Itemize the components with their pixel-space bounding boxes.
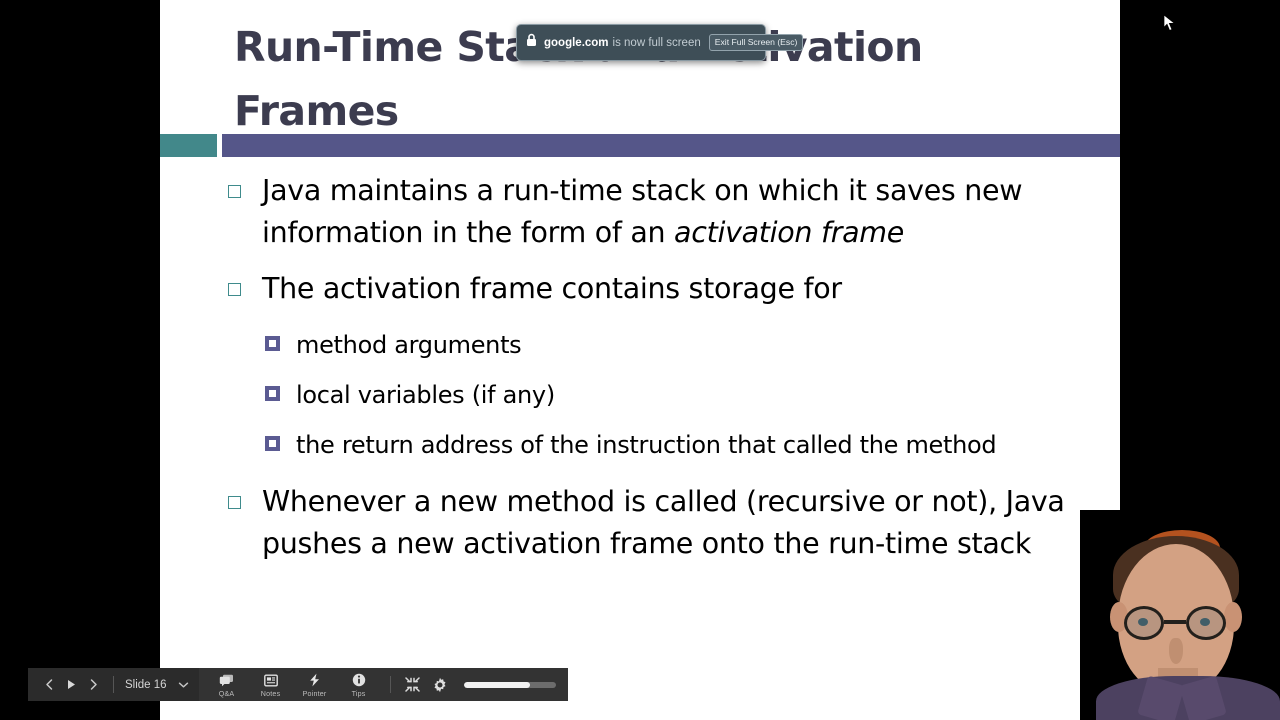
title-divider-bar xyxy=(160,134,1120,157)
tips-info-icon xyxy=(352,672,366,689)
banner-message: is now full screen xyxy=(613,37,701,49)
sub-bullet-square-icon xyxy=(265,386,280,401)
presentation-slide: Run-Time Stack and Activation Frames Jav… xyxy=(160,0,1120,720)
list-item: method arguments xyxy=(160,324,1120,367)
divider xyxy=(390,676,391,693)
bullet-text: local variables (if any) xyxy=(296,374,555,417)
bullet-square-icon xyxy=(228,496,241,509)
list-item: Java maintains a run-time stack on which… xyxy=(160,170,1120,254)
qa-label: Q&A xyxy=(219,690,235,698)
notes-label: Notes xyxy=(261,690,281,698)
gear-icon[interactable] xyxy=(426,672,454,698)
list-item: local variables (if any) xyxy=(160,374,1120,417)
bullet-text: The activation frame contains storage fo… xyxy=(262,268,842,310)
divider-teal-block xyxy=(160,134,217,157)
sub-bullet-square-icon xyxy=(265,336,280,351)
list-item: The activation frame contains storage fo… xyxy=(160,268,1120,310)
chevron-down-icon[interactable] xyxy=(173,672,195,698)
control-bar-right-group: Q&A Notes xyxy=(199,668,568,701)
previous-slide-button[interactable] xyxy=(38,672,60,698)
pointer-laser-icon xyxy=(308,672,321,689)
mouse-cursor xyxy=(1163,14,1176,38)
emphasis-activation-frame: activation frame xyxy=(674,216,904,249)
screen: Run-Time Stack and Activation Frames Jav… xyxy=(0,0,1280,720)
collapse-arrows-icon[interactable] xyxy=(400,672,426,698)
lock-icon xyxy=(526,33,537,52)
control-bar-left-group: Slide 16 xyxy=(28,668,199,701)
slide-number-indicator[interactable]: Slide 16 xyxy=(123,679,173,691)
presenter-video-overlay[interactable] xyxy=(1080,510,1280,720)
bullet-text: Whenever a new method is called (recursi… xyxy=(262,481,1074,565)
pointer-button[interactable]: Pointer xyxy=(293,672,337,698)
bullet-text: Java maintains a run-time stack on which… xyxy=(262,170,1074,254)
qa-speech-bubble-icon xyxy=(219,672,234,689)
presentation-control-bar: Slide 16 Q&A xyxy=(28,668,568,701)
list-item: Whenever a new method is called (recursi… xyxy=(160,481,1120,565)
banner-domain: google.com xyxy=(544,37,609,49)
bullet-text: method arguments xyxy=(296,324,521,367)
eyeglass-lens-right xyxy=(1186,606,1226,640)
notes-panel-icon xyxy=(264,672,278,689)
notes-button[interactable]: Notes xyxy=(249,672,293,698)
tips-label: Tips xyxy=(352,690,366,698)
ear-right xyxy=(1224,602,1242,632)
progress-slider-fill xyxy=(464,682,530,688)
exit-fullscreen-button[interactable]: Exit Full Screen (Esc) xyxy=(709,34,804,51)
eyeglass-bridge xyxy=(1164,620,1186,624)
divider-purple-bar xyxy=(222,134,1120,157)
slide-body: Java maintains a run-time stack on which… xyxy=(160,170,1120,579)
fullscreen-notification-banner: google.com is now full screen Exit Full … xyxy=(516,24,766,61)
sub-bullet-square-icon xyxy=(265,436,280,451)
list-item: the return address of the instruction th… xyxy=(160,424,1120,467)
bullet-square-icon xyxy=(228,283,241,296)
eyeglass-lens-left xyxy=(1124,606,1164,640)
qa-button[interactable]: Q&A xyxy=(205,672,249,698)
progress-slider[interactable] xyxy=(464,682,556,688)
pointer-label: Pointer xyxy=(303,690,327,698)
divider xyxy=(113,676,114,693)
bullet-square-icon xyxy=(228,185,241,198)
play-button[interactable] xyxy=(60,672,82,698)
bullet-text: the return address of the instruction th… xyxy=(296,424,996,467)
nose xyxy=(1169,638,1183,664)
next-slide-button[interactable] xyxy=(82,672,104,698)
tips-button[interactable]: Tips xyxy=(337,672,381,698)
